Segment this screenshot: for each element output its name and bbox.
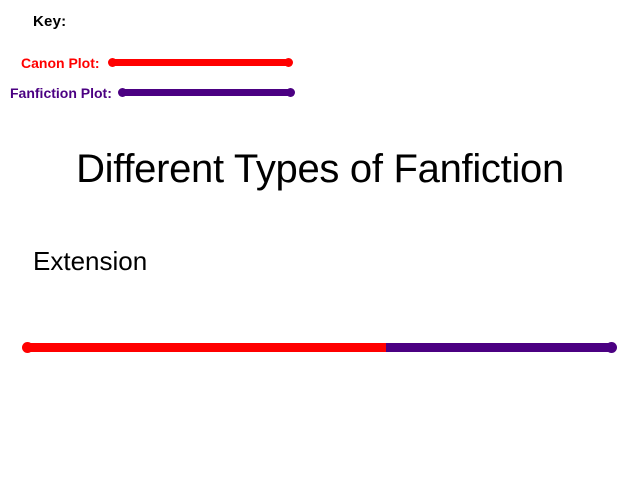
legend-label-fanfiction-plot: Fanfiction Plot: [10, 83, 112, 103]
timeline-end-dot-icon [606, 342, 617, 353]
timeline-segment-canon-plot [26, 343, 386, 352]
legend-dot-canon-end-icon [284, 58, 293, 67]
legend-dot-canon-start-icon [108, 58, 117, 67]
key-heading: Key: [33, 13, 66, 30]
legend-line-canon-plot [109, 59, 289, 66]
page-title: Different Types of Fanfiction [0, 147, 640, 192]
legend-dot-fanfiction-start-icon [118, 88, 127, 97]
legend-key: Key: Canon Plot: Fanfiction Plot: [0, 0, 640, 115]
legend-dot-fanfiction-end-icon [286, 88, 295, 97]
timeline-segment-fanfiction-plot [386, 343, 612, 352]
legend-item-canon-plot: Canon Plot: [0, 53, 300, 73]
legend-item-fanfiction-plot: Fanfiction Plot: [0, 83, 300, 103]
plot-timeline-diagram [0, 330, 640, 370]
legend-line-fanfiction-plot [119, 89, 291, 96]
section-label-extension: Extension [33, 246, 147, 277]
legend-label-canon-plot: Canon Plot: [21, 53, 100, 73]
